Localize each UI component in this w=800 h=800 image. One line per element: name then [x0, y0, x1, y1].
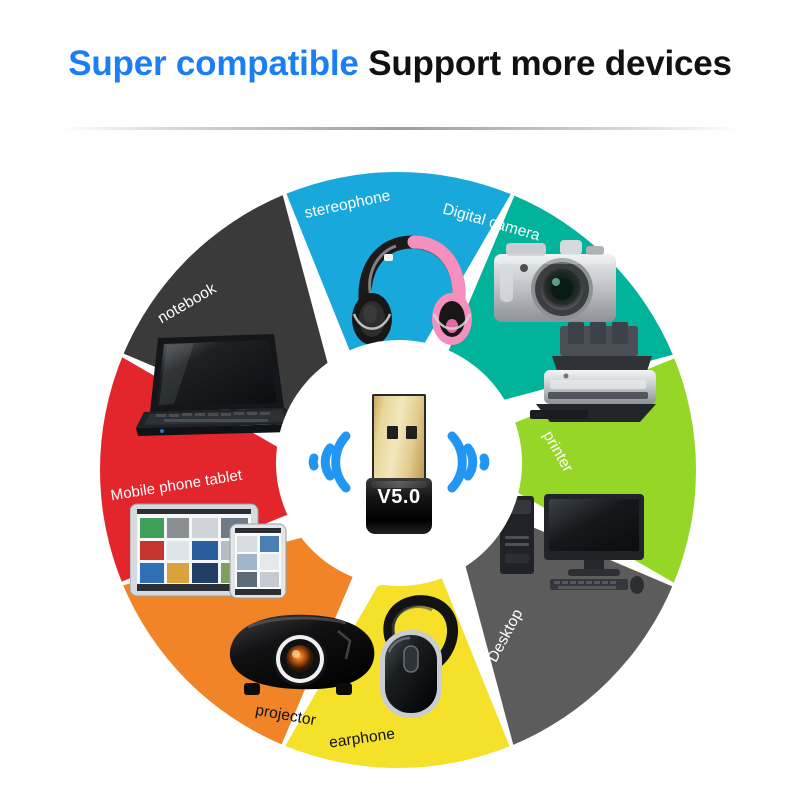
device-compatibility-wheel: stereophone Digital camera printer Deskt… [98, 172, 698, 772]
usb-connector [372, 394, 426, 480]
camera-icon [490, 234, 620, 330]
signal-waves-left-icon [294, 402, 356, 522]
usb-contact-slot [406, 426, 417, 439]
signal-waves-right-icon [442, 402, 504, 522]
desktop-computer-icon [498, 490, 648, 600]
projector-icon [218, 597, 383, 709]
page-title-rest: Support more devices [359, 44, 732, 83]
laptop-icon [134, 332, 294, 444]
bluetooth-usb-dongle: V5.0 [366, 394, 432, 534]
page-title-accent: Super compatible [68, 44, 358, 83]
center-hub: V5.0 [278, 342, 520, 584]
page-title: Super compatible Support more devices [0, 44, 800, 104]
tablet-and-phone-icon [130, 502, 298, 600]
printer-icon [530, 322, 666, 432]
headphones-icon [352, 230, 472, 348]
version-label: V5.0 [366, 486, 432, 509]
header-divider [60, 127, 740, 130]
usb-contact-slot [387, 426, 398, 439]
